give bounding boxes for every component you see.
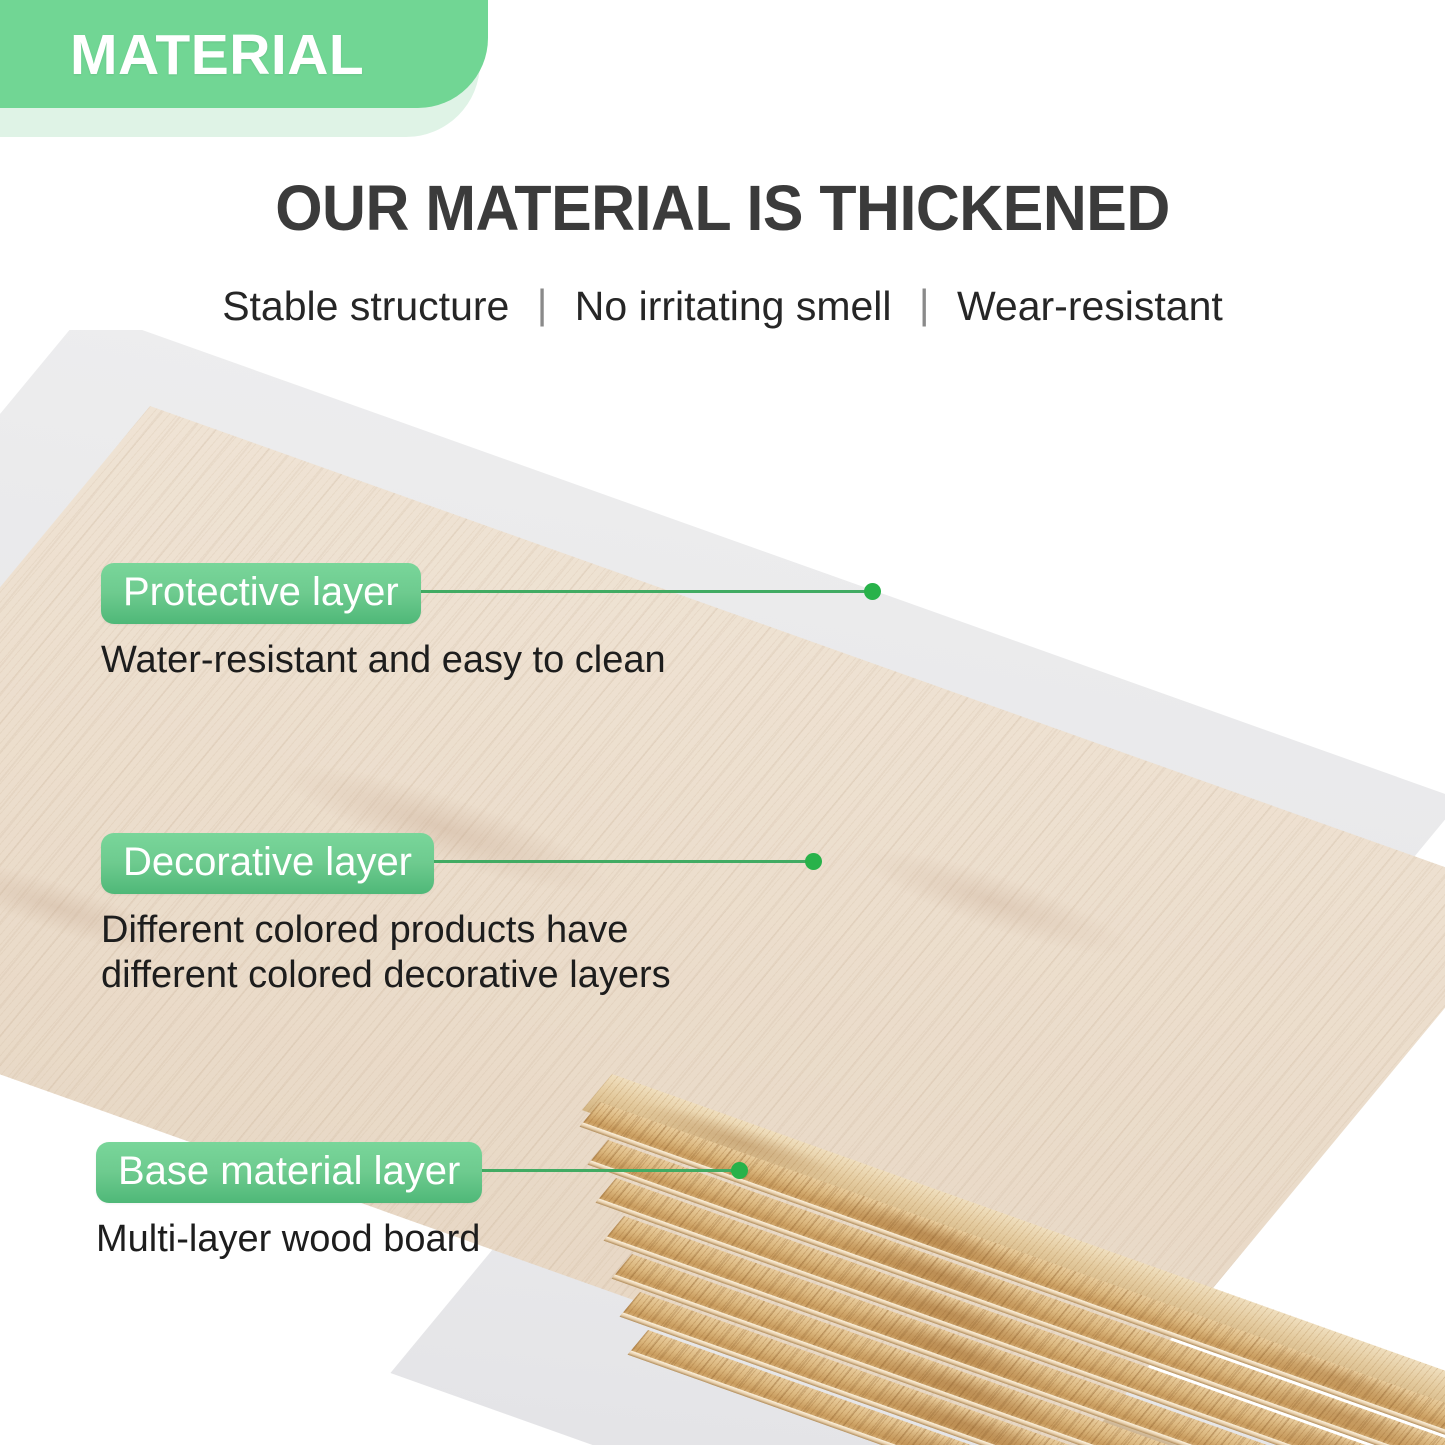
leader-dot-decorative	[805, 853, 822, 870]
subtitle-row: Stable structure | No irritating smell |…	[0, 283, 1445, 330]
subtitle-separator-2: |	[919, 281, 930, 327]
header-banner-label: MATERIAL	[70, 22, 364, 88]
subtitle-item-2: No irritating smell	[575, 283, 892, 329]
leader-dot-base	[731, 1162, 748, 1179]
page-title: OUR MATERIAL IS THICKENED	[36, 171, 1409, 245]
description-decorative-layer-line1: Different colored products have	[101, 908, 671, 953]
callout-protective-layer: Protective layer Water-resistant and eas…	[101, 563, 666, 683]
subtitle-item-3: Wear-resistant	[957, 283, 1223, 329]
callout-base-material-layer: Base material layer Multi-layer wood boa…	[96, 1142, 482, 1262]
header-banner: MATERIAL	[0, 0, 488, 108]
subtitle-item-1: Stable structure	[222, 283, 509, 329]
badge-decorative-layer: Decorative layer	[101, 833, 434, 894]
subtitle-separator-1: |	[537, 281, 548, 327]
description-decorative-layer-line2: different colored decorative layers	[101, 953, 671, 998]
badge-base-material-layer: Base material layer	[96, 1142, 482, 1203]
description-protective-layer: Water-resistant and easy to clean	[101, 638, 666, 683]
badge-protective-layer: Protective layer	[101, 563, 421, 624]
leader-dot-protective	[864, 583, 881, 600]
callout-decorative-layer: Decorative layer Different colored produ…	[101, 833, 671, 997]
description-base-material-layer: Multi-layer wood board	[96, 1217, 482, 1262]
